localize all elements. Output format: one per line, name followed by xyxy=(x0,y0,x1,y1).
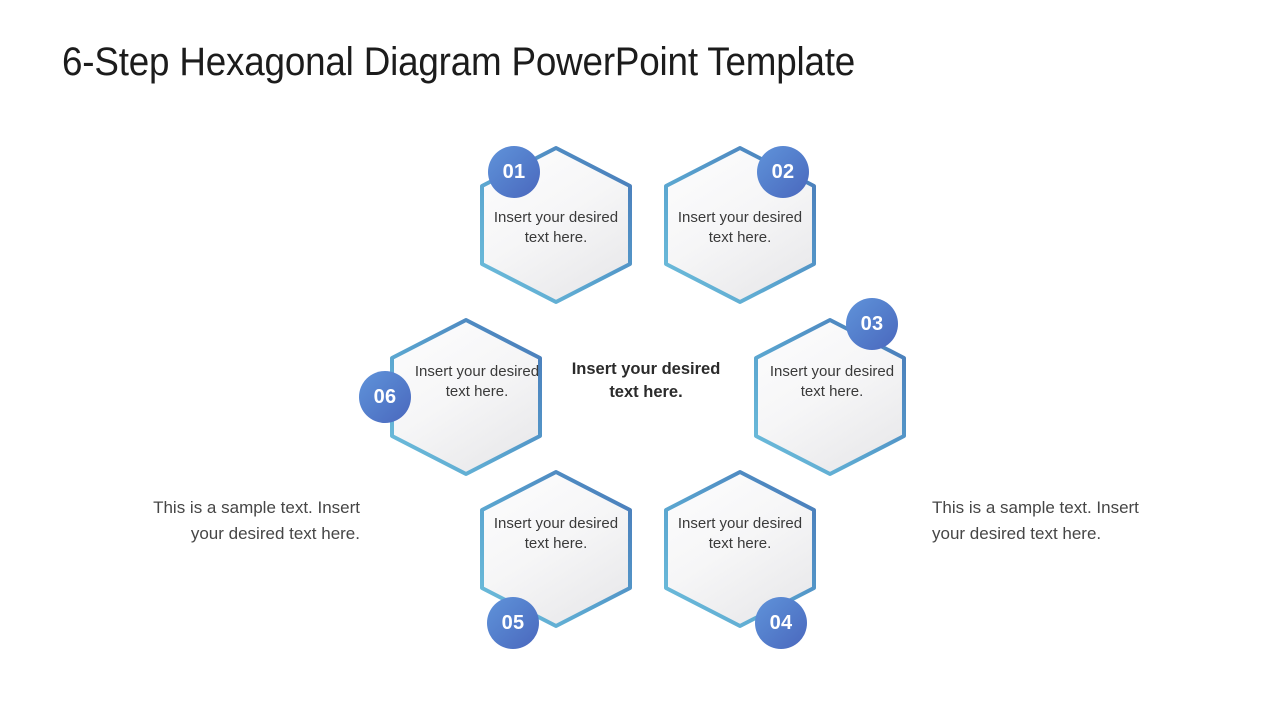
caption-right: This is a sample text. Insert your desir… xyxy=(932,495,1164,548)
caption-left: This is a sample text. Insert your desir… xyxy=(128,495,360,548)
step-badge-02[interactable]: 02 xyxy=(757,146,809,198)
step-badge-03[interactable]: 03 xyxy=(846,298,898,350)
step-badge-06-number: 06 xyxy=(374,386,397,409)
hexagonal-diagram: Insert your desired text here. Insert yo… xyxy=(0,0,1280,720)
step-badge-06[interactable]: 06 xyxy=(359,371,411,423)
step-badge-05[interactable]: 05 xyxy=(487,597,539,649)
step-badge-04[interactable]: 04 xyxy=(755,597,807,649)
step-badge-01-number: 01 xyxy=(503,161,526,184)
center-label: Insert your desired text here. xyxy=(570,358,722,404)
step-badge-05-number: 05 xyxy=(502,612,525,635)
step-badge-01[interactable]: 01 xyxy=(488,146,540,198)
step-badge-04-number: 04 xyxy=(770,612,793,635)
step-badge-02-number: 02 xyxy=(772,161,795,184)
hexagon-shape-06[interactable] xyxy=(392,320,540,474)
step-badge-03-number: 03 xyxy=(861,313,884,336)
